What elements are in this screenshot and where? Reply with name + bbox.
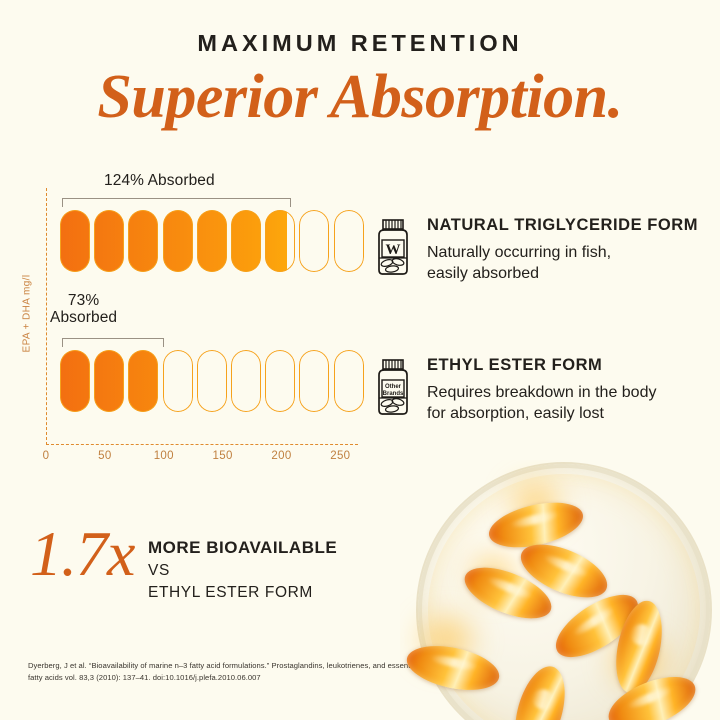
chart-pill [128, 210, 158, 272]
chart-pill-outline [163, 350, 193, 412]
svg-text:Brands: Brands [383, 391, 404, 397]
chart-pill [163, 210, 193, 272]
petri-dish-photo [400, 460, 720, 720]
bioavailability-multiplier: 1.7x [30, 522, 134, 586]
chart-pill [60, 350, 90, 412]
chart-x-axis [46, 444, 358, 445]
chart-pill [94, 210, 124, 272]
chart-pill-outline [197, 350, 227, 412]
chart-y-axis [46, 188, 47, 445]
chart-pill-outline [334, 210, 364, 272]
svg-text:Other: Other [385, 384, 402, 390]
chart-pill-outline [60, 210, 90, 272]
chart-pill [163, 350, 193, 412]
chart-pill-outline [299, 210, 329, 272]
bracket-ethyl-ester [62, 338, 164, 347]
bioavailability-line-3: ETHYL ESTER FORM [148, 584, 370, 602]
citation-footnote: Dyerberg, J et al. “Bioavailability of m… [28, 660, 428, 683]
supplement-bottle-icon: W [373, 218, 413, 276]
x-axis-tick-label: 150 [213, 450, 233, 462]
chart-pill [265, 210, 295, 272]
x-axis-tick-label: 250 [330, 450, 350, 462]
feature-ethyl-ester: Other Brands ETHYL ESTER FORM Requires b… [373, 356, 713, 424]
chart-pill-outline [60, 350, 90, 412]
chart-pill [128, 350, 158, 412]
supplement-bottle-icon: Other Brands [373, 358, 413, 416]
bioavailability-line-2: VS [148, 562, 370, 580]
chart-pill [197, 210, 227, 272]
bracket-natural-triglyceride [62, 198, 291, 207]
chart-pill-outline [163, 210, 193, 272]
chart-pill [334, 210, 364, 272]
chart-pill [265, 350, 295, 412]
x-axis-tick-label: 0 [43, 450, 50, 462]
chart-y-axis-label: EPA + DHA mg/l [22, 259, 33, 369]
annotation-natural-triglyceride: 124% Absorbed [104, 172, 215, 189]
header: MAXIMUM RETENTION Superior Absorption. [0, 0, 720, 130]
svg-text:W: W [386, 242, 401, 258]
chart-pill [60, 210, 90, 272]
eyebrow-text: MAXIMUM RETENTION [0, 30, 720, 57]
chart-pill-outline [265, 350, 295, 412]
page-title: Superior Absorption. [0, 65, 720, 130]
x-axis-tick-label: 100 [154, 450, 174, 462]
feature-title: ETHYL ESTER FORM [427, 356, 713, 376]
chart-pill [197, 350, 227, 412]
annotation-ethyl-ester: 73% Absorbed [50, 292, 117, 327]
chart-pill-outline [128, 210, 158, 272]
x-axis-tick-label: 50 [98, 450, 111, 462]
chart-pill-outline [334, 350, 364, 412]
chart-pill-outline [94, 350, 124, 412]
chart-pill-outline [299, 350, 329, 412]
chart-pill [299, 210, 329, 272]
bioavailability-callout: 1.7x MORE BIOAVAILABLE VS ETHYL ESTER FO… [30, 530, 370, 602]
chart-pill-outline [197, 210, 227, 272]
chart-pill [231, 210, 261, 272]
bioavailability-line-1: MORE BIOAVAILABLE [148, 538, 370, 558]
chart-x-ticks: 050100150200250 [46, 450, 358, 470]
chart-pill-outline [128, 350, 158, 412]
x-axis-tick-label: 200 [271, 450, 291, 462]
chart-pill [231, 350, 261, 412]
chart-pill [334, 350, 364, 412]
absorption-chart: EPA + DHA mg/l 050100150200250 124% Abso… [0, 180, 370, 470]
feature-natural-triglyceride: W NATURAL TRIGLYCERIDE FORM Naturally oc… [373, 216, 713, 284]
chart-pill-outline [265, 210, 295, 272]
chart-pill [94, 350, 124, 412]
chart-pill-outline [231, 350, 261, 412]
chart-pill [299, 350, 329, 412]
feature-description: Requires breakdown in the body for absor… [427, 382, 713, 425]
feature-title: NATURAL TRIGLYCERIDE FORM [427, 216, 713, 236]
feature-description: Naturally occurring in fish, easily abso… [427, 242, 713, 285]
chart-pill-outline [231, 210, 261, 272]
chart-pill-outline [94, 210, 124, 272]
